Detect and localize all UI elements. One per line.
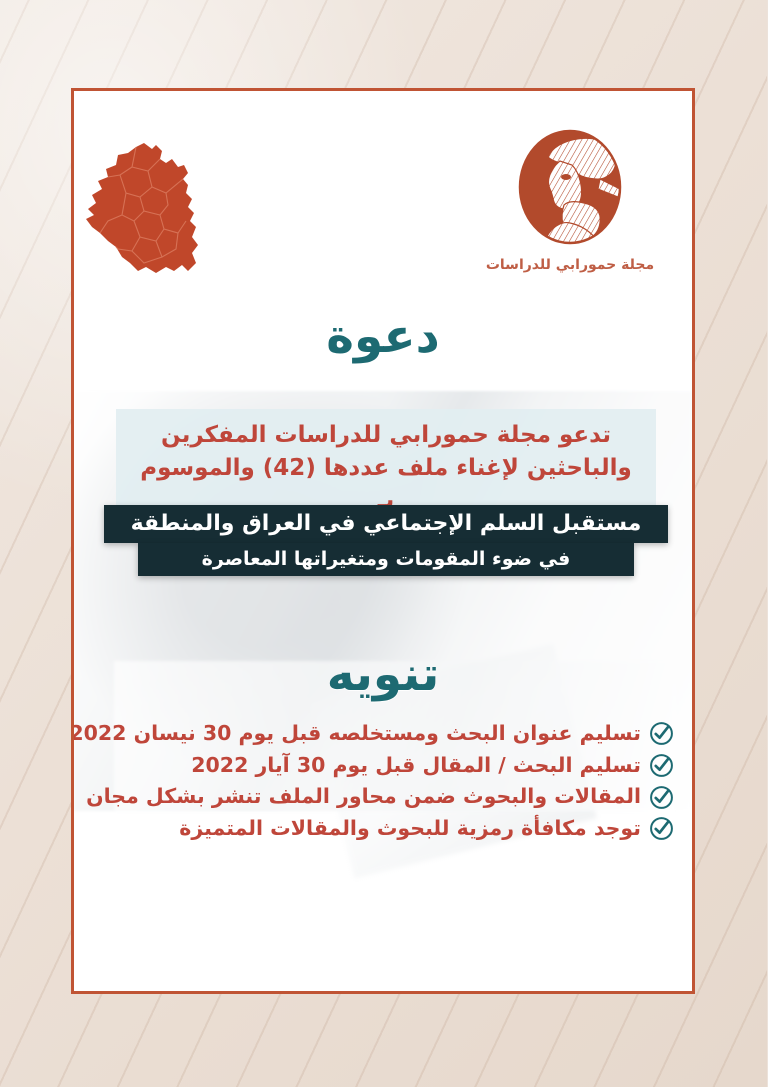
list-item: المقالات والبحوث ضمن محاور الملف تنشر بش…	[99, 784, 675, 810]
topic-banner-line-2: في ضوء المقومات ومتغيراتها المعاصرة	[139, 543, 635, 576]
intro-line-1: تدعو مجلة حمورابي للدراسات المفكرين	[131, 419, 643, 452]
contact-details: https://www.hcrsiraq.net hammurabijornal…	[119, 993, 374, 994]
list-item: تسليم عنوان البحث ومستخلصه قبل يوم 30 ني…	[99, 721, 675, 747]
topic-banner-line-1: مستقبل السلم الإجتماعي في العراق والمنطق…	[105, 505, 669, 543]
list-item-label: تسليم عنوان البحث ومستخلصه قبل يوم 30 ني…	[72, 721, 642, 747]
circle-check-icon	[650, 785, 675, 810]
list-item-label: المقالات والبحوث ضمن محاور الملف تنشر بش…	[87, 784, 642, 810]
invite-heading: دعوة	[75, 313, 693, 360]
list-item: توجد مكافأة رمزية للبحوث والمقالات المتم…	[99, 816, 675, 842]
poster-header: مجلة حمورابي للدراسات	[75, 109, 693, 309]
list-item: تسليم البحث / المقال قبل يوم 30 آيار 202…	[99, 753, 675, 779]
journal-logo-block: مجلة حمورابي للدراسات	[471, 127, 671, 273]
notice-checklist: تسليم عنوان البحث ومستخلصه قبل يوم 30 ني…	[99, 721, 675, 848]
iraq-map-icon	[83, 141, 213, 281]
contact-website[interactable]: https://www.hcrsiraq.net	[119, 993, 374, 994]
list-item-label: توجد مكافأة رمزية للبحوث والمقالات المتم…	[180, 816, 642, 842]
circle-check-icon	[650, 816, 675, 841]
circle-check-icon	[650, 721, 675, 746]
list-item-label: تسليم البحث / المقال قبل يوم 30 آيار 202…	[192, 753, 642, 779]
circle-check-icon	[650, 753, 675, 778]
logo-caption: مجلة حمورابي للدراسات	[471, 257, 671, 273]
hammurabi-bust-oval-logo	[509, 127, 633, 251]
poster-card: مجلة حمورابي للدراسات دعوة تدعو مجلة حمو…	[72, 88, 696, 994]
contact-heading: للتواصل والإستعلام	[417, 991, 655, 994]
notice-heading: تنويه	[75, 651, 693, 698]
